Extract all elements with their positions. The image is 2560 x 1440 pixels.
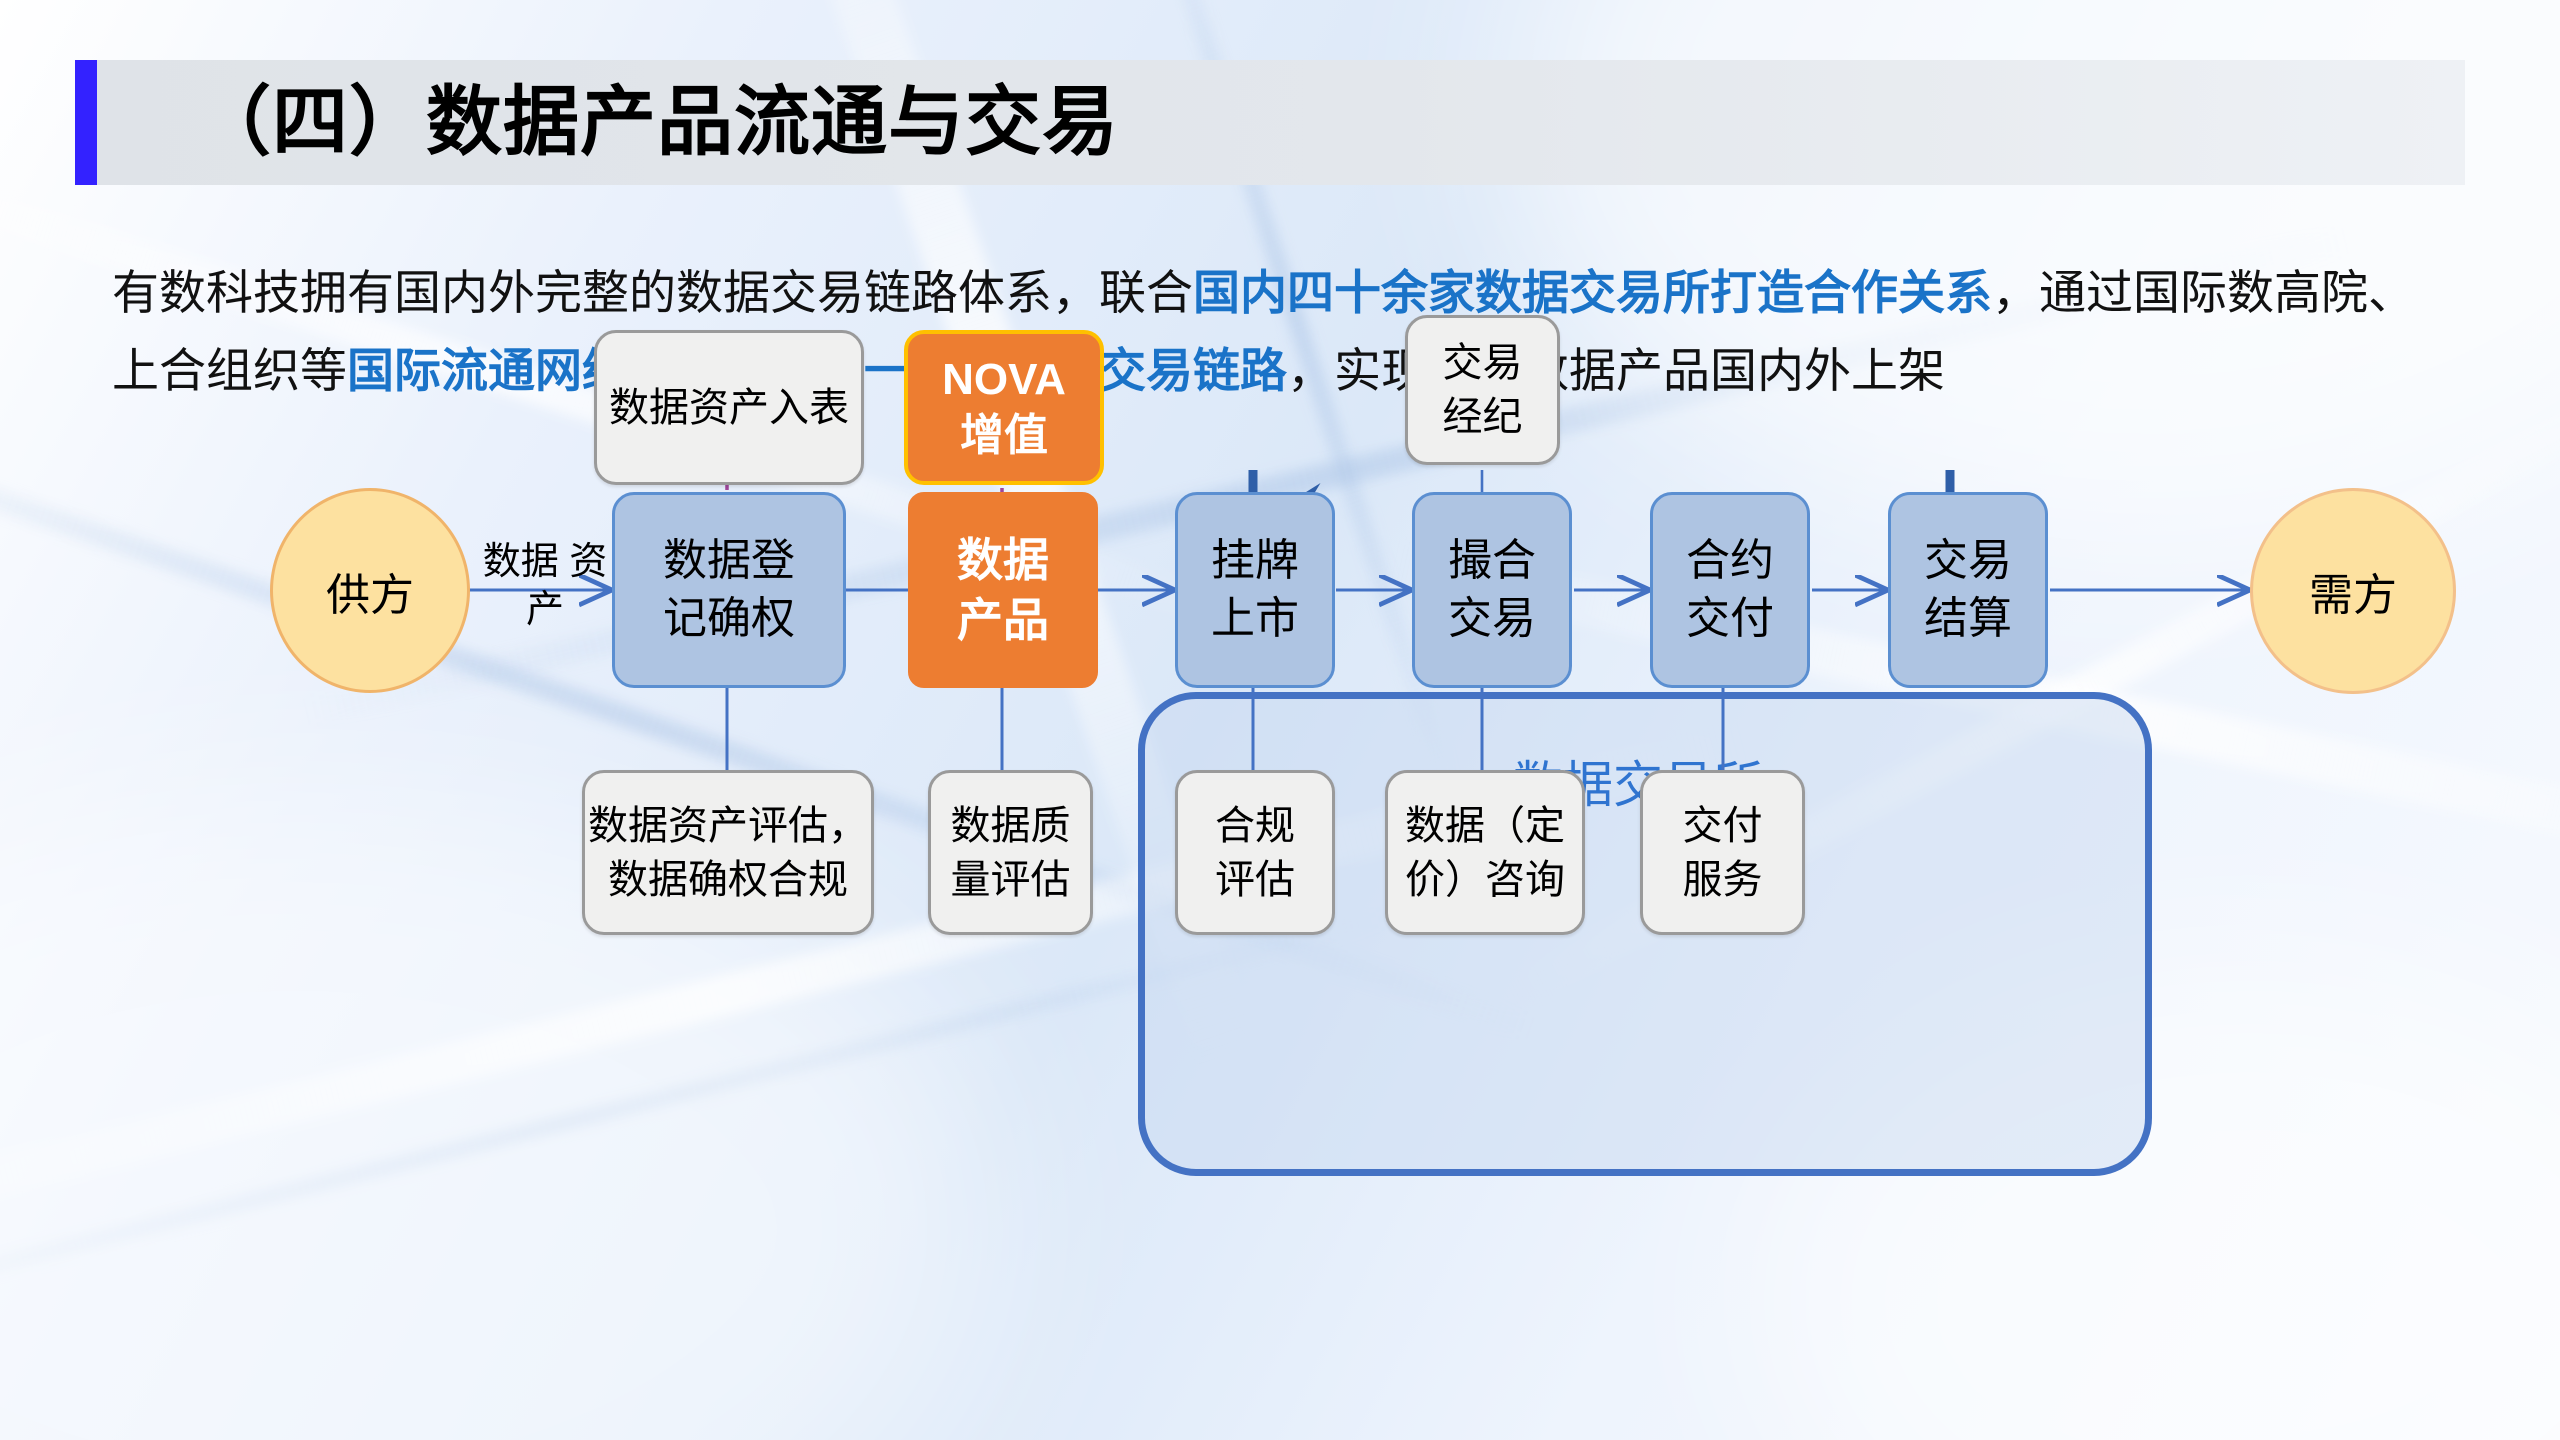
title-accent-bar bbox=[75, 60, 97, 185]
node-matching[interactable]: 撮合 交易 bbox=[1412, 492, 1572, 688]
node-nova[interactable]: NOVA 增值 bbox=[904, 330, 1104, 485]
node-support-delivery[interactable]: 交付 服务 bbox=[1640, 770, 1805, 935]
node-contract[interactable]: 合约 交付 bbox=[1650, 492, 1810, 688]
intro-highlight: 国内四十余家数据交易所打造合作关系 bbox=[1193, 266, 1992, 319]
node-listing[interactable]: 挂牌 上市 bbox=[1175, 492, 1335, 688]
node-broker[interactable]: 交易 经纪 bbox=[1405, 315, 1560, 465]
intro-paragraph: 有数科技拥有国内外完整的数据交易链路体系，联合国内四十余家数据交易所打造合作关系… bbox=[112, 254, 2422, 410]
edge-label-data-asset: 数据 资产 bbox=[470, 538, 620, 634]
intro-text: ，实现企业数据产品国内外上架 bbox=[1287, 344, 1945, 397]
node-product[interactable]: 数据 产品 bbox=[908, 492, 1098, 688]
node-support-asset-eval[interactable]: 数据资产评估， 数据确权合规 bbox=[582, 770, 874, 935]
node-support-quality[interactable]: 数据质 量评估 bbox=[928, 770, 1093, 935]
intro-text: 有数科技拥有国内外完整的数据交易链路体系，联合 bbox=[112, 266, 1193, 319]
flow-diagram: 数据交易所 bbox=[0, 470, 2560, 1440]
node-support-pricing[interactable]: 数据（定 价）咨询 bbox=[1385, 770, 1585, 935]
node-asset-table[interactable]: 数据资产入表 bbox=[594, 330, 864, 485]
page-title: （四）数据产品流通与交易 bbox=[195, 68, 1119, 178]
node-settlement[interactable]: 交易 结算 bbox=[1888, 492, 2048, 688]
node-registration[interactable]: 数据登 记确权 bbox=[612, 492, 846, 688]
node-consumer[interactable]: 需方 bbox=[2250, 488, 2456, 694]
node-support-compliance[interactable]: 合规 评估 bbox=[1175, 770, 1335, 935]
node-supplier[interactable]: 供方 bbox=[270, 488, 470, 693]
